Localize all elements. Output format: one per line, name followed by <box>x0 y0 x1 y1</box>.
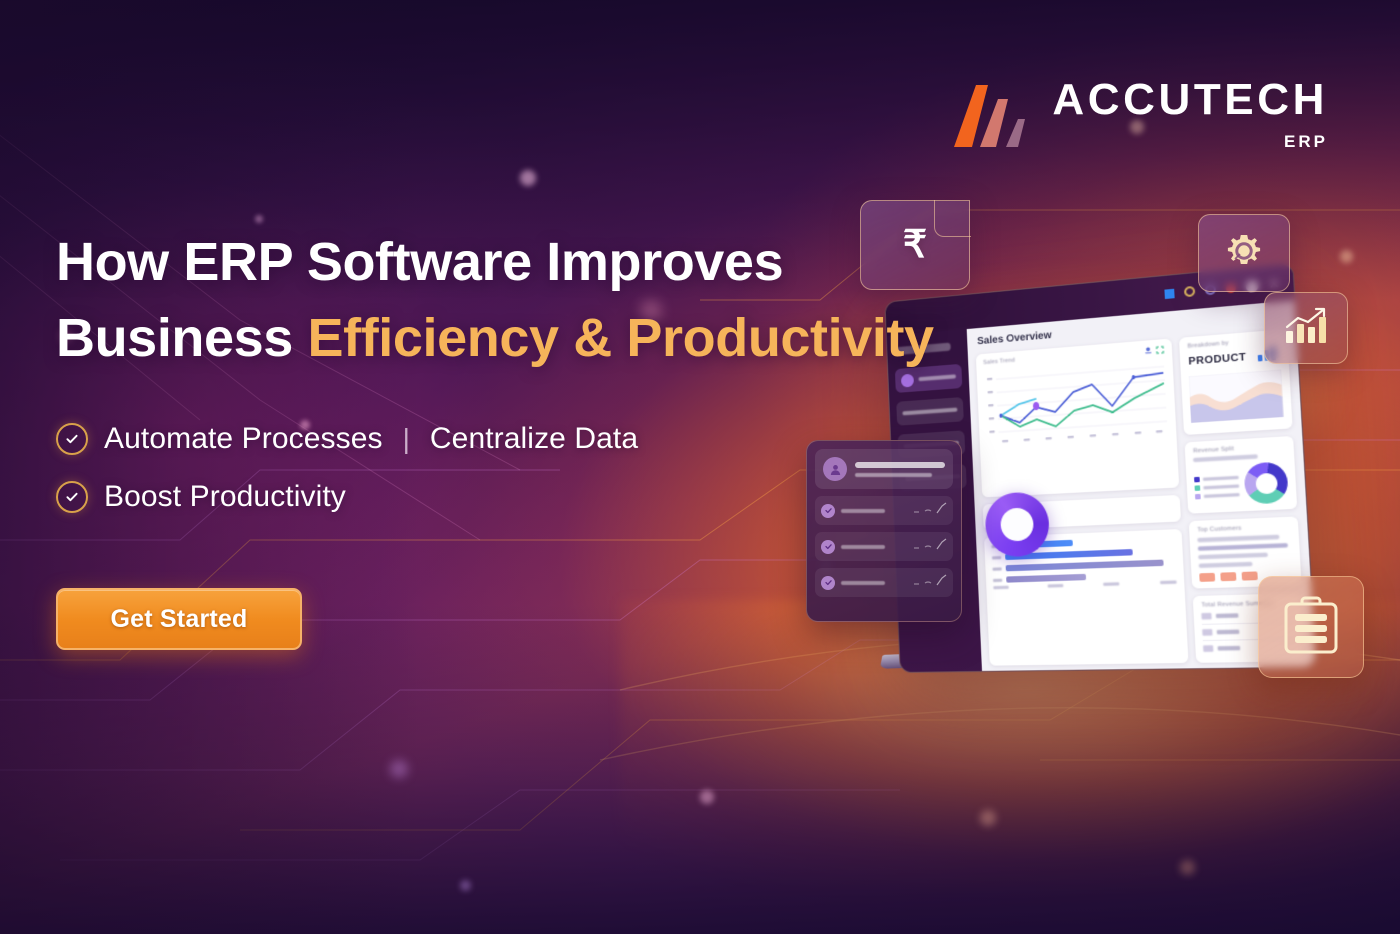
status-badge <box>1242 571 1258 580</box>
legend-swatch <box>1195 485 1201 491</box>
amount-value <box>1218 646 1241 651</box>
sparkline-up-icon <box>913 537 947 556</box>
hero-content: How ERP Software Improves Business Effic… <box>56 224 896 650</box>
ring-amber-icon[interactable] <box>1184 286 1195 298</box>
legend-swatch <box>1195 477 1201 483</box>
status-badge <box>1200 573 1216 582</box>
bullet-separator: | <box>403 423 410 455</box>
axis-tick <box>1161 581 1178 585</box>
headline-plain: Business <box>56 308 308 368</box>
logo-subtext: ERP <box>1284 132 1328 152</box>
logo-wordmark: ACCUTECH <box>1052 78 1328 122</box>
list-card-title: Top Customers <box>1197 523 1290 533</box>
sidebar-item-overview[interactable] <box>895 364 962 393</box>
sidebar-item-label <box>918 374 955 381</box>
list-line <box>1198 535 1280 543</box>
legend-label <box>1203 476 1238 481</box>
check-circle-icon <box>56 423 88 455</box>
bullet-label-1: Automate Processes <box>104 422 383 456</box>
status-badge <box>1221 572 1237 581</box>
card-actions[interactable] <box>1144 345 1165 355</box>
sidebar-avatar-icon <box>901 373 914 387</box>
gear-icon <box>1222 229 1266 278</box>
clipboard-icon <box>1280 592 1342 663</box>
axis-tick <box>1048 584 1064 588</box>
table-row <box>992 560 1176 573</box>
get-started-button[interactable]: Get Started <box>56 588 302 650</box>
currency-badge <box>1203 629 1213 636</box>
badge-analytics[interactable] <box>1264 292 1348 364</box>
bullet-label-2: Centralize Data <box>430 422 638 456</box>
bar-chart-growth-icon <box>1282 305 1330 352</box>
list-line <box>1199 553 1268 560</box>
currency-badge <box>1202 613 1212 620</box>
rupee-icon: ₹ <box>903 226 927 264</box>
bullet-label-3: Boost Productivity <box>104 480 346 514</box>
donut-card-label: Revenue Split <box>1193 443 1286 455</box>
amount-value <box>1216 613 1239 618</box>
brand-logo[interactable]: ACCUTECH ERP <box>954 78 1328 152</box>
amount-value <box>1217 630 1240 635</box>
headline-accent: Efficiency & Productivity <box>308 308 934 368</box>
logo-mark-icon <box>954 85 1036 152</box>
product-card-title: PRODUCT <box>1188 352 1246 368</box>
donut-chart <box>1243 461 1288 504</box>
legend-swatch <box>1195 494 1201 500</box>
expand-icon <box>1156 345 1165 354</box>
sparkline-up-icon <box>913 573 947 592</box>
check-circle-icon <box>56 481 88 513</box>
headline-line-2: Business Efficiency & Productivity <box>56 300 896 376</box>
bar-label <box>992 556 1001 559</box>
bar-fill <box>1006 560 1164 572</box>
feature-bullets: Automate Processes | Centralize Data Boo… <box>56 422 896 514</box>
filter-icon <box>1144 346 1153 355</box>
sidebar-item-customers[interactable] <box>896 397 964 426</box>
legend-item <box>1195 492 1239 499</box>
list-line <box>1199 562 1253 568</box>
badge-finance[interactable]: ₹ <box>860 200 970 290</box>
headline-line-1: How ERP Software Improves <box>56 224 896 300</box>
erp-marketing-banner: ACCUTECH ERP How ERP Software Improves B… <box>0 0 1400 934</box>
revenue-split-card: Revenue Split <box>1185 436 1297 514</box>
line-chart <box>984 358 1170 447</box>
legend-item <box>1195 483 1239 491</box>
bar-fill <box>1006 574 1086 583</box>
legend-label <box>1204 484 1239 489</box>
donut-card-subline <box>1194 454 1259 462</box>
area-chart <box>1189 369 1284 422</box>
legend-label <box>1204 493 1239 498</box>
sparkline-up-icon <box>913 501 947 520</box>
page-title: How ERP Software Improves Business Effic… <box>56 224 896 376</box>
sidebar-item-label <box>902 408 957 416</box>
square-blue-icon[interactable] <box>1164 288 1174 298</box>
list-item: Automate Processes | Centralize Data <box>56 422 896 456</box>
list-line <box>1198 543 1287 551</box>
badge-operations[interactable] <box>1198 214 1290 292</box>
currency-badge <box>1204 645 1214 652</box>
badge-reports[interactable] <box>1258 576 1364 678</box>
axis-tick <box>993 586 1008 590</box>
bar-label <box>993 567 1002 570</box>
bar-label <box>993 579 1002 582</box>
legend-item <box>1195 475 1239 483</box>
sales-trend-card: Sales Trend <box>976 338 1180 497</box>
list-item: Boost Productivity <box>56 480 896 514</box>
axis-tick <box>1104 583 1120 587</box>
